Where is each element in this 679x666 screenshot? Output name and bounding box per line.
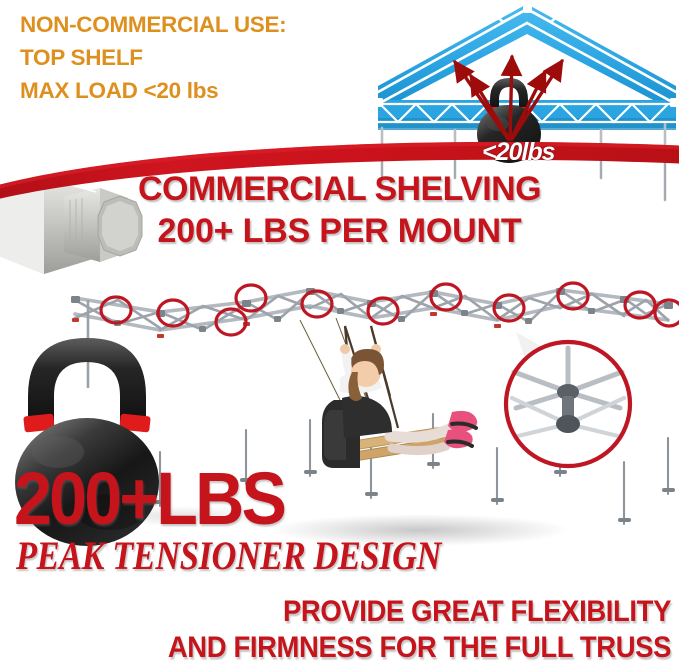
- benefit-line-2: AND FIRMNESS FOR THE FULL TRUSS: [57, 630, 671, 666]
- detail-circle-tensioner: [506, 332, 630, 466]
- kettlebell-load-label-text: <20lbs: [482, 138, 555, 166]
- headline-line-1: COMMERCIAL SHELVING: [0, 168, 679, 210]
- headline-commercial-shelving: COMMERCIAL SHELVING 200+ LBS PER MOUNT: [0, 168, 679, 252]
- girl-on-swing-graphic: [322, 326, 477, 468]
- kettlebell-load-label: <20lbs: [482, 138, 555, 167]
- capacity-200lbs: 200+LBS: [14, 462, 284, 536]
- warning-line-3: MAX LOAD <20 lbs: [20, 74, 360, 107]
- tagline-peak-tensioner-design: PEAK TENSIONER DESIGN: [16, 534, 441, 578]
- joint-marker-circles: [101, 283, 679, 335]
- non-commercial-warning: NON-COMMERCIAL USE: TOP SHELF MAX LOAD <…: [20, 8, 360, 107]
- load-arrows: [455, 57, 562, 139]
- tagline-benefit: PROVIDE GREAT FLEXIBILITY AND FIRMNESS F…: [57, 594, 671, 666]
- warning-line-1: NON-COMMERCIAL USE:: [20, 8, 360, 41]
- benefit-line-1: PROVIDE GREAT FLEXIBILITY: [57, 594, 671, 630]
- infographic-canvas: NON-COMMERCIAL USE: TOP SHELF MAX LOAD <…: [0, 0, 679, 666]
- headline-line-2: 200+ LBS PER MOUNT: [0, 210, 679, 252]
- warning-line-2: TOP SHELF: [20, 41, 360, 74]
